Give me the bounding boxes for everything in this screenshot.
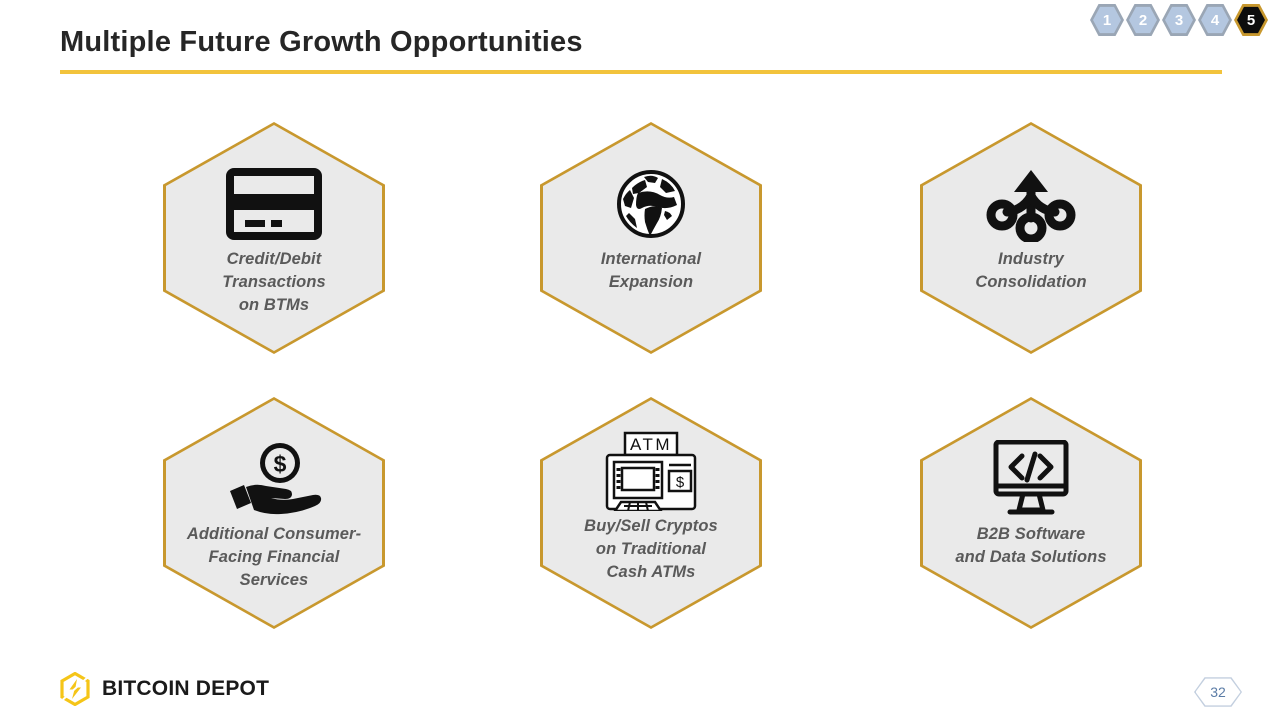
step-indicator-5[interactable]: 5: [1234, 3, 1268, 37]
tile-b2b-software[interactable]: B2B Software and Data Solutions: [920, 397, 1142, 629]
page-number-badge: 32: [1194, 676, 1242, 708]
tile-consumer-financial-services[interactable]: $ Additional Consumer- Facing Financial …: [163, 397, 385, 629]
step-number-label: 1: [1103, 13, 1111, 28]
tile-label: Industry Consolidation: [975, 248, 1086, 294]
svg-text:$: $: [274, 451, 287, 477]
step-indicator-3[interactable]: 3: [1162, 3, 1196, 37]
hand-holding-dollar-icon: $: [218, 443, 330, 515]
brand-logo: BITCOIN DEPOT: [58, 672, 269, 706]
brand-name: BITCOIN DEPOT: [102, 677, 269, 701]
step-indicator-4[interactable]: 4: [1198, 3, 1232, 37]
step-number-label: 5: [1247, 13, 1255, 28]
tile-label: Credit/Debit Transactions on BTMs: [222, 248, 326, 316]
tile-label: Additional Consumer- Facing Financial Se…: [187, 523, 361, 591]
tile-industry-consolidation[interactable]: Industry Consolidation: [920, 122, 1142, 354]
step-indicator-2[interactable]: 2: [1126, 3, 1160, 37]
page-title: Multiple Future Growth Opportunities: [60, 26, 583, 59]
credit-card-icon: [226, 168, 322, 240]
step-indicator-1[interactable]: 1: [1090, 3, 1124, 37]
page-number-label: 32: [1210, 684, 1226, 700]
title-underline-rule: [60, 70, 1222, 74]
code-monitor-icon: [982, 443, 1080, 515]
bitcoin-depot-hex-bolt-icon: [58, 672, 92, 706]
svg-text:ATM: ATM: [630, 435, 672, 454]
tile-label: International Expansion: [601, 248, 701, 294]
step-number-label: 3: [1175, 13, 1183, 28]
svg-text:$: $: [676, 474, 685, 491]
tile-label: Buy/Sell Cryptos on Traditional Cash ATM…: [584, 515, 718, 583]
tile-credit-debit[interactable]: Credit/Debit Transactions on BTMs: [163, 122, 385, 354]
step-number-label: 2: [1139, 13, 1147, 28]
globe-icon: [614, 168, 688, 240]
merge-arrow-icon: [985, 168, 1077, 240]
tile-label: B2B Software and Data Solutions: [955, 523, 1106, 569]
step-number-label: 4: [1211, 13, 1219, 28]
step-indicator: 1 2 3 4 5: [1090, 3, 1268, 37]
tile-international-expansion[interactable]: International Expansion: [540, 122, 762, 354]
tile-buy-sell-cryptos-atm[interactable]: ATM $: [540, 397, 762, 629]
atm-machine-icon: ATM $: [599, 435, 703, 507]
